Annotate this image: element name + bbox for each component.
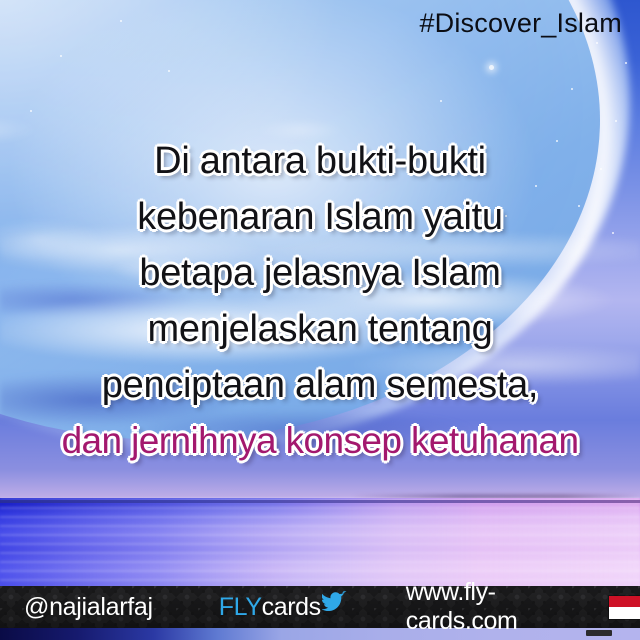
author-handle[interactable]: @najialarfaj xyxy=(24,593,153,622)
flag-stripe-white xyxy=(609,607,640,619)
brand-name-part1: FLY xyxy=(219,593,262,622)
flycards-logo[interactable]: FLYcards xyxy=(219,593,348,622)
indonesia-flag-icon xyxy=(609,596,640,619)
quote-line: Di antara bukti-bukti xyxy=(0,133,640,189)
hashtag-label: #Discover_Islam xyxy=(419,8,622,39)
quote-line: penciptaan alam semesta, xyxy=(0,357,640,413)
footer-bar: @najialarfaj FLYcards www.fly-cards.com xyxy=(0,586,640,628)
horizon-line xyxy=(0,500,640,503)
flag-stripe-red xyxy=(609,596,640,608)
bird-icon xyxy=(322,589,348,620)
quote-highlight-line: dan jernihnya konsep ketuhanan xyxy=(0,413,640,469)
quote-line: kebenaran Islam yaitu xyxy=(0,189,640,245)
website-url[interactable]: www.fly-cards.com xyxy=(406,578,588,636)
bottom-strip-chip xyxy=(586,630,612,636)
quote-text-block: Di antara bukti-bukti kebenaran Islam ya… xyxy=(0,133,640,469)
quote-line: betapa jelasnya Islam xyxy=(0,245,640,301)
discover-islam-quote-card: #Discover_Islam Di antara bukti-bukti ke… xyxy=(0,0,640,640)
brand-name-part2: cards xyxy=(262,593,321,622)
quote-line: menjelaskan tentang xyxy=(0,301,640,357)
